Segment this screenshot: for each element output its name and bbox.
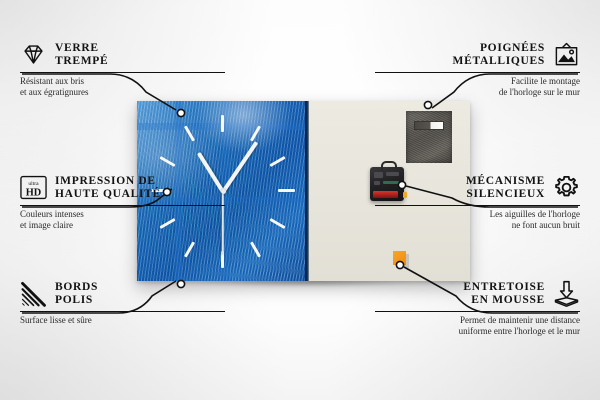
feature-divider — [375, 205, 580, 206]
feature-entretoise-en-mousse: ENTRETOISE EN MOUSSE Permet de maintenir… — [375, 280, 580, 337]
feature-divider — [20, 311, 225, 312]
diamond-icon — [20, 41, 47, 68]
feature-header: BORDS POLIS — [20, 280, 225, 307]
feature-subtitle: Facilite le montage de l'horloge sur le … — [375, 76, 580, 98]
connector-dot-entretoise — [396, 261, 403, 268]
feature-title: VERRE TREMPÉ — [55, 42, 108, 68]
feature-header: VERRE TREMPÉ — [20, 41, 225, 68]
feature-divider — [20, 205, 225, 206]
feature-divider — [375, 72, 580, 73]
feature-divider — [375, 311, 580, 312]
ultra-hd-icon: ultra HD — [20, 174, 47, 201]
gear-icon — [553, 174, 580, 201]
connector-dot-verre-trempe — [177, 109, 184, 116]
svg-text:HD: HD — [26, 187, 41, 198]
feature-divider — [20, 72, 225, 73]
feature-header: POIGNÉES MÉTALLIQUES — [375, 41, 580, 68]
feature-title: IMPRESSION DE HAUTE QUALITÉ — [55, 175, 161, 201]
feature-subtitle: Couleurs intenses et image claire — [20, 209, 225, 231]
feature-title: ENTRETOISE EN MOUSSE — [463, 281, 545, 307]
feature-header: MÉCANISME SILENCIEUX — [375, 174, 580, 201]
picture-hanger-icon — [553, 41, 580, 68]
feature-impression-haute-qualite: ultra HD IMPRESSION DE HAUTE QUALITÉ Cou… — [20, 174, 225, 231]
polished-edge-icon — [20, 280, 47, 307]
feature-subtitle: Les aiguilles de l'horloge ne font aucun… — [375, 209, 580, 231]
feature-poignees-metalliques: POIGNÉES MÉTALLIQUES Facilite le montage… — [375, 41, 580, 98]
feature-mecanisme-silencieux: MÉCANISME SILENCIEUX Les aiguilles de l'… — [375, 174, 580, 231]
connector-dot-poignees — [424, 101, 431, 108]
feature-title: POIGNÉES MÉTALLIQUES — [453, 42, 545, 68]
feature-subtitle: Permet de maintenir une distance uniform… — [375, 315, 580, 337]
infographic-canvas: VERRE TREMPÉ Résistant aux bris et aux é… — [0, 0, 600, 400]
feature-header: ENTRETOISE EN MOUSSE — [375, 280, 580, 307]
feature-title: BORDS POLIS — [55, 281, 98, 307]
feature-subtitle: Résistant aux bris et aux égratignures — [20, 76, 225, 98]
feature-header: ultra HD IMPRESSION DE HAUTE QUALITÉ — [20, 174, 225, 201]
feature-bords-polis: BORDS POLIS Surface lisse et sûre — [20, 280, 225, 326]
feature-verre-trempe: VERRE TREMPÉ Résistant aux bris et aux é… — [20, 41, 225, 98]
feature-title: MÉCANISME SILENCIEUX — [466, 175, 545, 201]
foam-spacer-icon — [553, 280, 580, 307]
svg-text:ultra: ultra — [28, 181, 39, 187]
feature-subtitle: Surface lisse et sûre — [20, 315, 225, 326]
